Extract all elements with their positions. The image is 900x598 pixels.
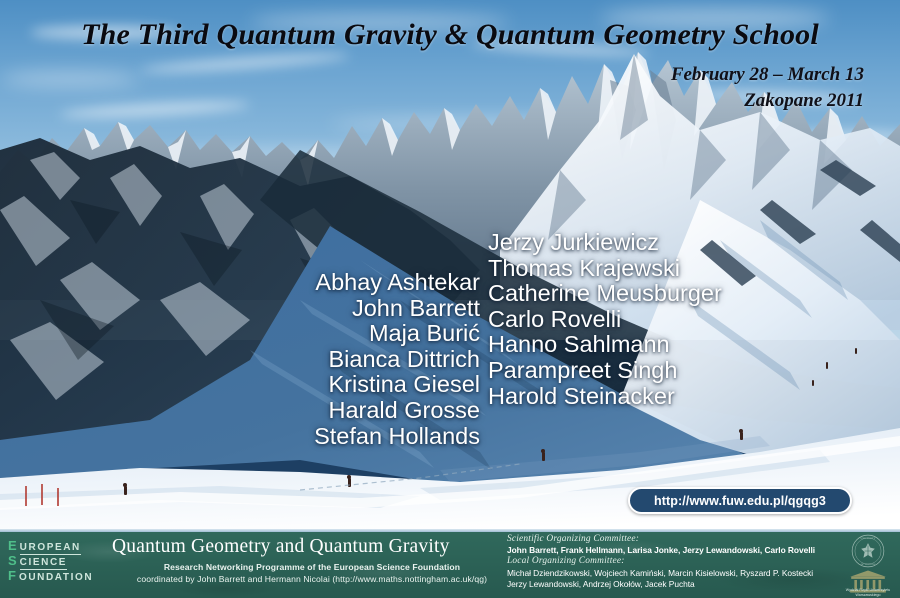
date-location-block: February 28 – March 13 Zakopane 2011: [444, 62, 864, 113]
svg-text:OF WARSAW: OF WARSAW: [861, 563, 876, 566]
svg-text:UNIVERSITY: UNIVERSITY: [861, 537, 876, 540]
programme-line-1: Research Networking Programme of the Eur…: [112, 562, 512, 574]
faculty-logo-line-1: Wydział Fizyki Uniwersytetu: [843, 588, 893, 593]
speaker-name: Hanno Sahlmann: [488, 332, 722, 358]
committees-block: Scientific Organizing Committee: John Ba…: [507, 534, 837, 589]
speaker-name: Harold Steinacker: [488, 384, 722, 410]
esf-word-european: UROPEAN: [20, 542, 81, 555]
scientific-committee-heading: Scientific Organizing Committee:: [507, 534, 837, 545]
esf-letter-e: E: [8, 539, 18, 554]
programme-line-2: coordinated by John Barrett and Hermann …: [112, 574, 512, 586]
local-committee-heading: Local Organizing Committee:: [507, 556, 837, 567]
speaker-name: Jerzy Jurkiewicz: [488, 230, 722, 256]
speaker-name: Parampreet Singh: [488, 358, 722, 384]
esf-letter-s: S: [8, 554, 18, 569]
speaker-name: Thomas Krajewski: [488, 256, 722, 282]
esf-logo-row-european: E UROPEAN: [8, 539, 112, 554]
speaker-name: Abhay Ashtekar: [0, 270, 480, 296]
speaker-name: Stefan Hollands: [0, 424, 480, 450]
esf-letter-f: F: [8, 569, 17, 584]
local-committee-members-line-2: Jerzy Lewandowski, Andrzej Okołów, Jacek…: [507, 579, 837, 589]
faculty-logo-caption: Wydział Fizyki Uniwersytetu Warszawskieg…: [843, 588, 893, 597]
website-url-button[interactable]: http://www.fuw.edu.pl/qgqg3: [628, 487, 852, 514]
speaker-name: Catherine Meusburger: [488, 281, 722, 307]
speaker-name: John Barrett: [0, 296, 480, 322]
esf-word-foundation: OUNDATION: [19, 572, 93, 583]
poster-location: Zakopane 2011: [444, 88, 864, 114]
faculty-logo-line-2: Warszawskiego: [843, 593, 893, 598]
poster-dates: February 28 – March 13: [444, 62, 864, 88]
poster-title: The Third Quantum Gravity & Quantum Geom…: [0, 18, 900, 52]
local-committee-members-line-1: Michał Dziendzikowski, Wojciech Kamiński…: [507, 568, 837, 578]
university-logos: UNIVERSITY OF WARSAW Wydział Fizyki Uniw…: [843, 534, 893, 596]
speaker-column-right: Jerzy Jurkiewicz Thomas Krajewski Cather…: [488, 230, 722, 449]
speaker-column-left: Abhay Ashtekar John Barrett Maja Burić B…: [0, 230, 480, 449]
esf-logo-row-foundation: F OUNDATION: [8, 569, 112, 584]
scientific-committee-members: John Barrett, Frank Hellmann, Larisa Jon…: [507, 545, 837, 555]
speaker-name: Carlo Rovelli: [488, 307, 722, 333]
conference-poster: The Third Quantum Gravity & Quantum Geom…: [0, 0, 900, 598]
speaker-list: Abhay Ashtekar John Barrett Maja Burić B…: [0, 230, 900, 449]
speaker-name: Kristina Giesel: [0, 372, 480, 398]
esf-logo-row-science: S CIENCE: [8, 554, 112, 569]
programme-description: Research Networking Programme of the Eur…: [112, 562, 512, 585]
speaker-name: Harald Grosse: [0, 398, 480, 424]
speaker-name: Maja Burić: [0, 321, 480, 347]
programme-title: Quantum Geometry and Quantum Gravity: [112, 536, 512, 558]
esf-word-science: CIENCE: [20, 557, 67, 570]
esf-logo: E UROPEAN S CIENCE F OUNDATION: [8, 539, 112, 585]
university-of-warsaw-crest-icon: UNIVERSITY OF WARSAW: [851, 534, 885, 568]
speaker-name: Bianca Dittrich: [0, 347, 480, 373]
